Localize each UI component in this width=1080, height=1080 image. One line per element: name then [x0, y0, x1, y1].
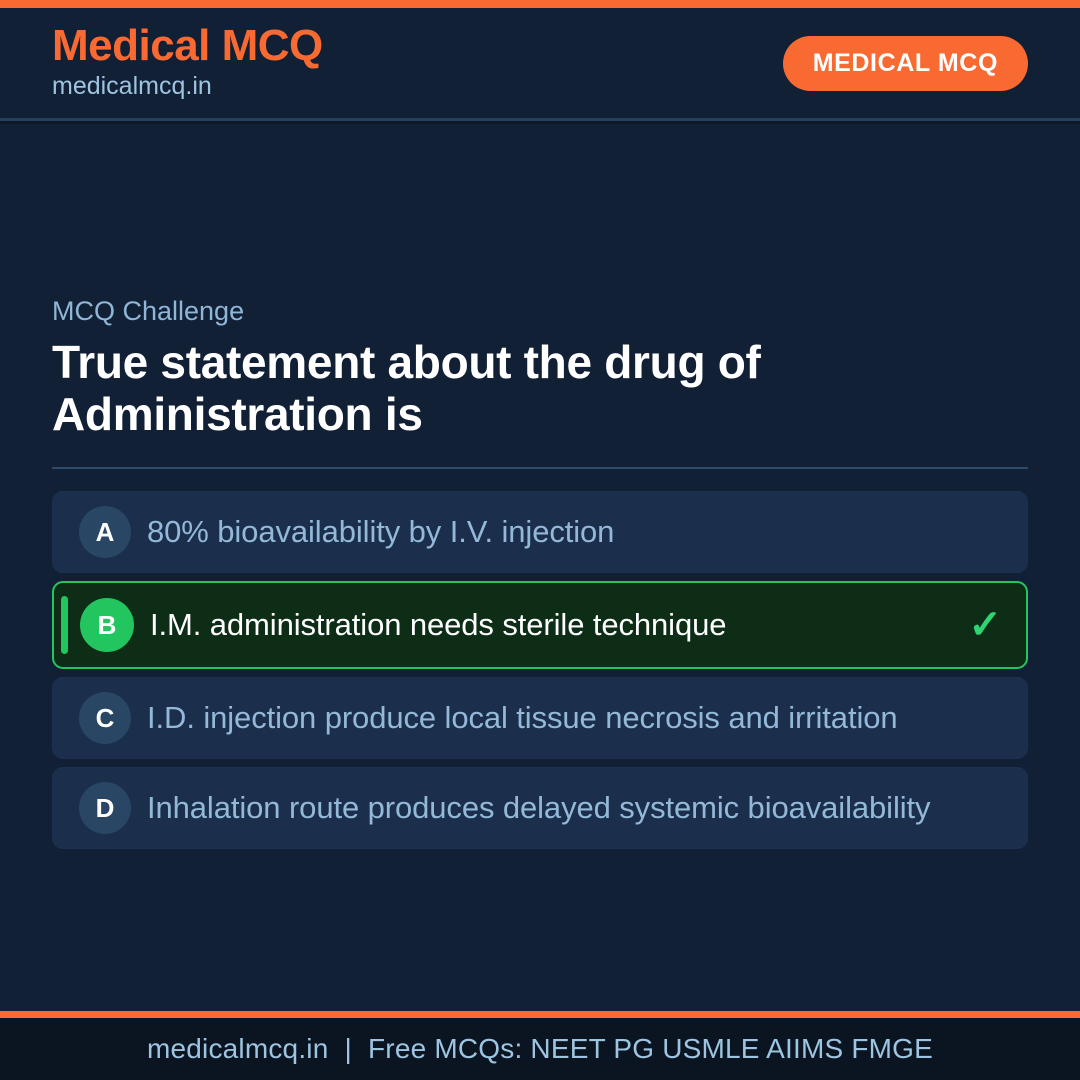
correct-accent-bar: [61, 596, 68, 654]
footer-separator: |: [345, 1033, 352, 1064]
footer-accent-bar: [0, 1011, 1080, 1018]
option-text-b: I.M. administration needs sterile techni…: [150, 608, 954, 641]
brand-badge[interactable]: MEDICAL MCQ: [783, 36, 1028, 91]
option-row-b[interactable]: B I.M. administration needs sterile tech…: [52, 581, 1028, 669]
options-list: A 80% bioavailability by I.V. injection …: [52, 491, 1028, 849]
option-letter-badge-b: B: [80, 598, 134, 652]
question-divider: [52, 467, 1028, 469]
option-letter-badge-c: C: [79, 692, 131, 744]
brand-subtitle: medicalmcq.in: [52, 71, 323, 102]
option-text-d: Inhalation route produces delayed system…: [147, 791, 1003, 824]
page-header: Medical MCQ medicalmcq.in MEDICAL MCQ: [0, 8, 1080, 121]
footer-tagline: Free MCQs: NEET PG USMLE AIIMS FMGE: [368, 1033, 933, 1064]
brand-block: Medical MCQ medicalmcq.in: [52, 23, 323, 102]
main-content-area: MCQ Challenge True statement about the d…: [0, 124, 1080, 1011]
page-footer: medicalmcq.in|Free MCQs: NEET PG USMLE A…: [0, 1018, 1080, 1080]
option-letter-badge-a: A: [79, 506, 131, 558]
brand-title: Medical MCQ: [52, 23, 323, 69]
kicker-label: MCQ Challenge: [52, 294, 1028, 329]
option-row-a[interactable]: A 80% bioavailability by I.V. injection: [52, 491, 1028, 573]
question-block: MCQ Challenge True statement about the d…: [52, 294, 1028, 849]
option-row-d[interactable]: D Inhalation route produces delayed syst…: [52, 767, 1028, 849]
question-text: True statement about the drug of Adminis…: [52, 337, 1028, 441]
top-accent-bar: [0, 0, 1080, 8]
option-row-c[interactable]: C I.D. injection produce local tissue ne…: [52, 677, 1028, 759]
footer-content: medicalmcq.in|Free MCQs: NEET PG USMLE A…: [147, 1033, 933, 1065]
option-text-a: 80% bioavailability by I.V. injection: [147, 515, 1003, 548]
option-letter-badge-d: D: [79, 782, 131, 834]
check-icon: ✓: [968, 605, 1002, 645]
option-text-c: I.D. injection produce local tissue necr…: [147, 701, 1003, 734]
footer-site[interactable]: medicalmcq.in: [147, 1033, 329, 1064]
